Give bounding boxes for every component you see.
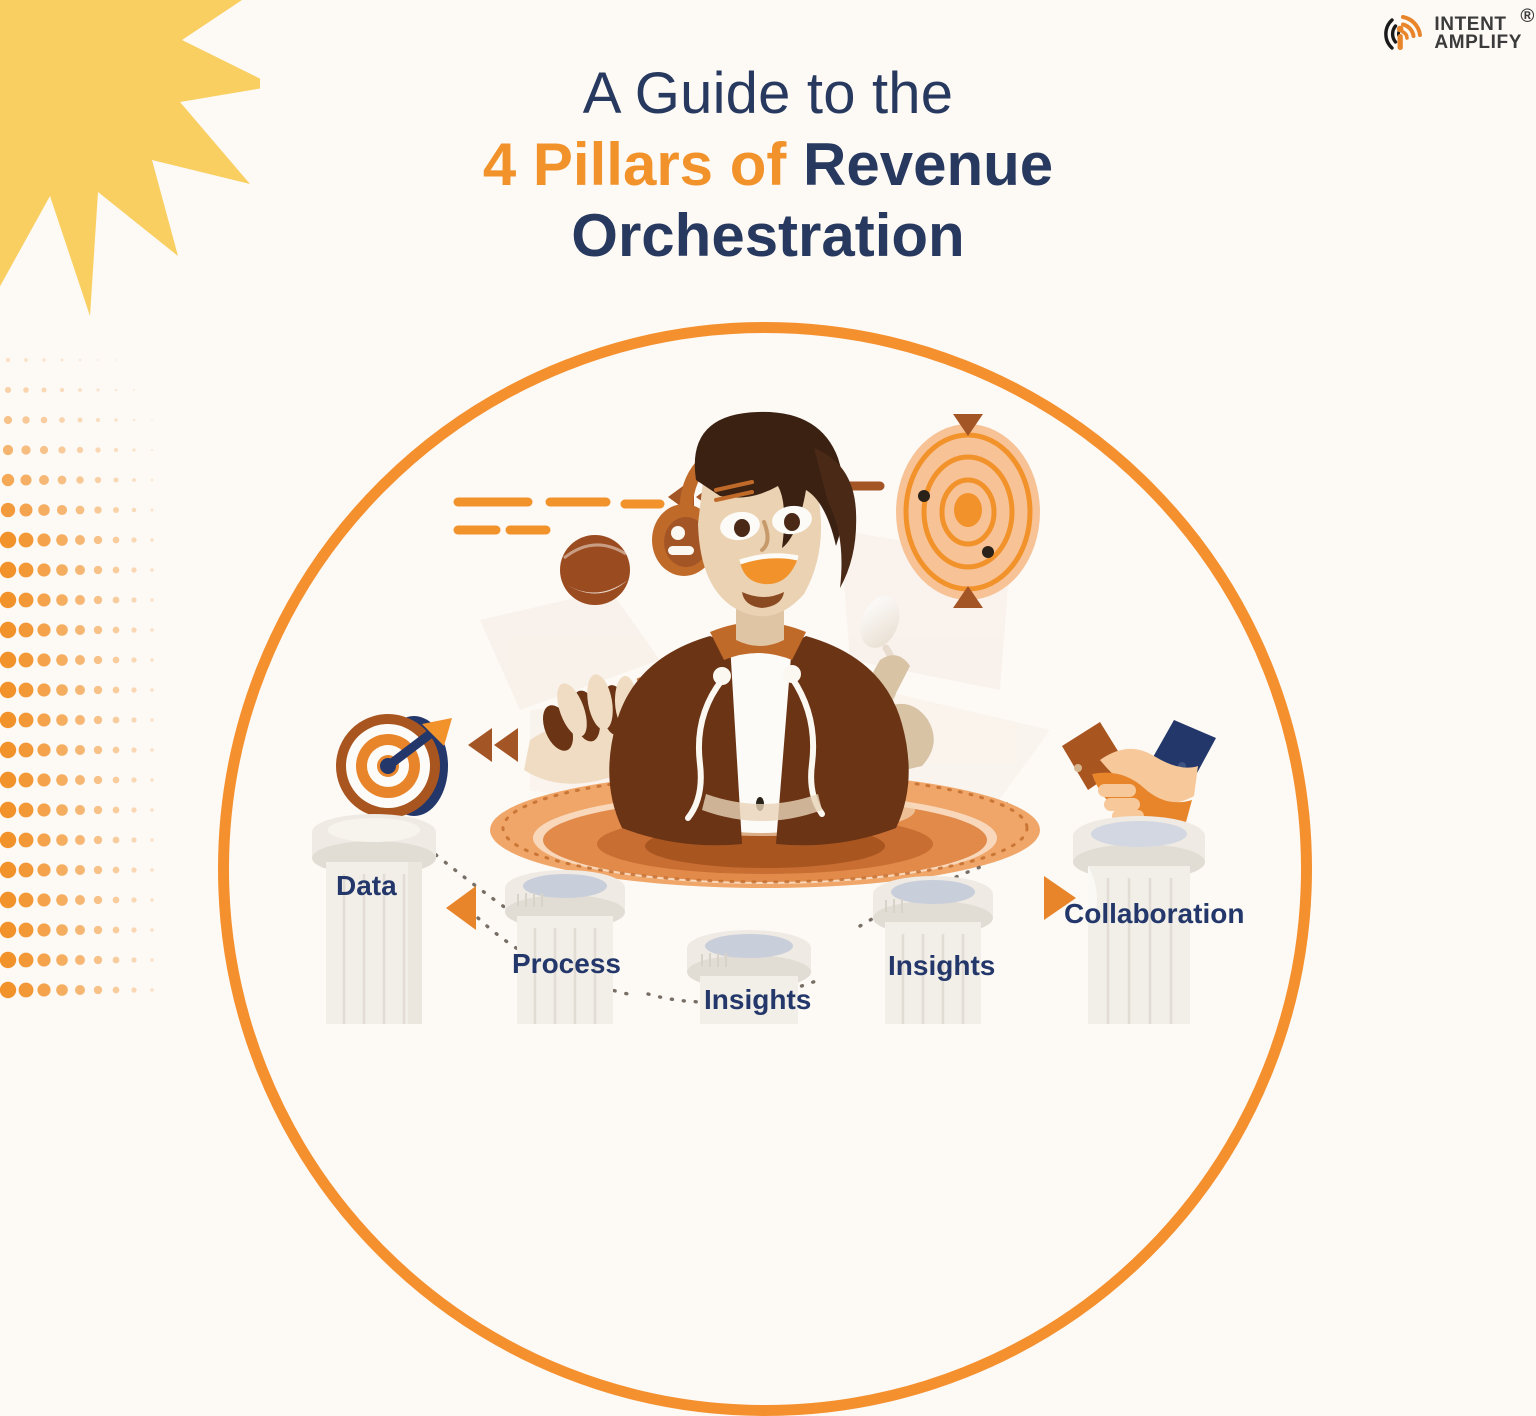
title-line-2: 4 Pillars of Revenue bbox=[0, 131, 1536, 198]
registered-mark-icon: ® bbox=[1520, 8, 1535, 26]
pillar-label-insights-center: Insights bbox=[704, 984, 811, 1016]
pillar-label-process: Process bbox=[512, 948, 621, 980]
pillar-column bbox=[868, 872, 998, 1024]
pillar-insights-right: Insights bbox=[868, 872, 998, 1024]
pillar-label-insights-right: Insights bbox=[888, 950, 995, 982]
ball-icon bbox=[560, 535, 630, 605]
pillar-label-data: Data bbox=[336, 870, 397, 902]
logo-word-amplify: AMPLIFY bbox=[1434, 34, 1522, 52]
pillar-collaboration: Collaboration bbox=[1068, 812, 1210, 1024]
pillar-data: Data bbox=[308, 810, 440, 1024]
pillar-insights-center: Insights bbox=[682, 926, 816, 1024]
halftone-dot-gradient bbox=[0, 352, 170, 1024]
infographic-canvas: A Guide to the 4 Pillars of Revenue Orch… bbox=[0, 0, 1536, 1024]
title-highlight: 4 Pillars of bbox=[483, 131, 803, 198]
title-line-2-rest: Revenue bbox=[803, 131, 1053, 198]
pillar-column bbox=[308, 810, 440, 1024]
pillar-label-collaboration: Collaboration bbox=[1064, 898, 1244, 930]
title-line-3: Orchestration bbox=[0, 202, 1536, 269]
pillar-column bbox=[500, 866, 630, 1024]
page-title: A Guide to the 4 Pillars of Revenue Orch… bbox=[0, 62, 1536, 269]
handshake-icon bbox=[1056, 708, 1222, 828]
pillar-process: Process bbox=[500, 866, 630, 1024]
brand-logo[interactable]: INTENT AMPLIFY ® bbox=[1378, 10, 1522, 58]
person-head bbox=[652, 412, 856, 646]
title-line-1: A Guide to the bbox=[0, 62, 1536, 127]
signal-wave-icon bbox=[1378, 10, 1426, 58]
ui-dashes-icon bbox=[458, 502, 660, 530]
